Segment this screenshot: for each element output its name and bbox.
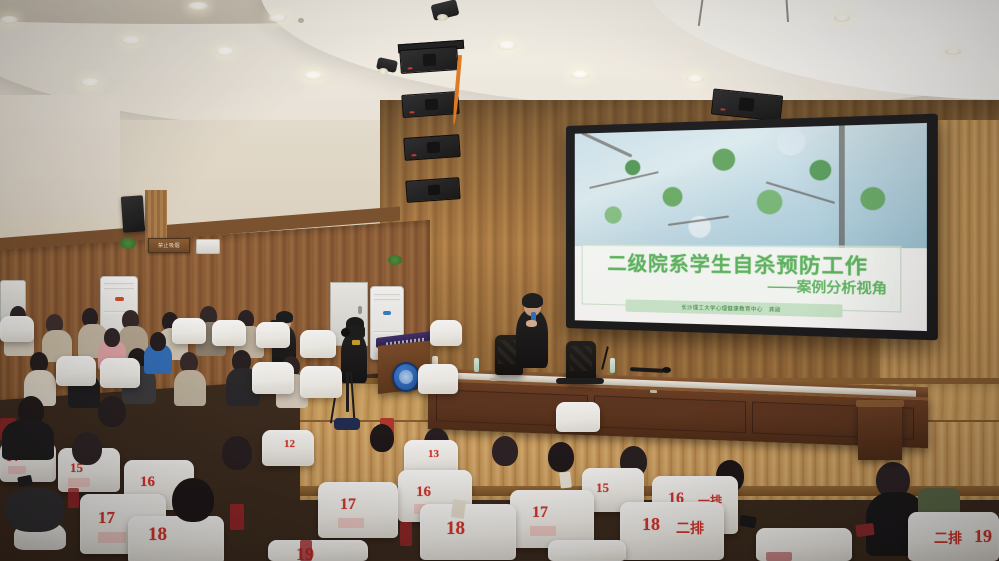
- executive-chair[interactable]: [566, 341, 596, 383]
- table-hardware: [490, 378, 497, 381]
- spotlight-lens: [378, 68, 388, 75]
- downlight: [80, 78, 100, 87]
- seat-number: 16: [140, 474, 155, 491]
- seat-tag: [68, 478, 90, 487]
- chair-cover[interactable]: [620, 502, 724, 560]
- audience-head: [104, 328, 120, 347]
- downlight: [570, 70, 590, 79]
- slide-background-photo: [575, 123, 927, 253]
- chair-cover[interactable]: [0, 316, 34, 342]
- microphone-head: [662, 367, 671, 373]
- audience-head: [548, 442, 574, 472]
- mobile-phone[interactable]: [739, 515, 757, 529]
- decorative-plant: [388, 255, 402, 265]
- table-hardware: [650, 390, 657, 393]
- chair-base: [556, 378, 604, 384]
- wall-left-upper: [0, 95, 120, 215]
- side-lectern: [858, 404, 902, 460]
- water-bottle: [474, 358, 479, 372]
- camera-bag: [334, 418, 360, 430]
- chair-cover[interactable]: [556, 402, 600, 432]
- chair-cover[interactable]: [318, 482, 398, 538]
- chair-cover[interactable]: [548, 540, 626, 561]
- audience-head: [98, 396, 126, 427]
- water-bottle: [610, 358, 615, 373]
- university-emblem: [392, 362, 420, 392]
- downlight: [0, 16, 18, 24]
- spotlight-lens: [437, 14, 448, 21]
- projection-screen[interactable]: 二级院系学生自杀预防工作 ——案例分析视角 长沙理工大学心理健康教育中心 龚勋: [566, 114, 938, 341]
- seat-tag: [338, 518, 364, 528]
- seat-number: 17: [340, 496, 356, 514]
- chair-cover[interactable]: [212, 320, 246, 346]
- chair-cover[interactable]: [56, 356, 96, 386]
- seat-number: 18: [148, 524, 167, 546]
- downlight: [497, 41, 517, 50]
- downlight: [120, 36, 142, 45]
- decorative-plant: [120, 238, 136, 249]
- chair-cover[interactable]: [300, 366, 342, 398]
- seat-number: 15: [596, 480, 609, 496]
- seat-tag: [530, 526, 556, 536]
- no-smoking-sign: 禁止吸烟: [148, 238, 190, 253]
- seat-backrest-accent: [68, 488, 79, 508]
- seat-backrest-accent: [766, 552, 792, 561]
- seat-tag: [98, 532, 126, 543]
- chair-cover[interactable]: [268, 540, 368, 561]
- chair-cover[interactable]: [128, 516, 224, 561]
- line-array-speaker: [401, 91, 459, 118]
- line-array-speaker: [405, 177, 460, 203]
- side-lectern-top: [856, 400, 904, 407]
- chair-cover[interactable]: [418, 364, 458, 394]
- audience-head: [492, 436, 518, 466]
- audience-body: [2, 420, 54, 460]
- downlight: [215, 47, 235, 56]
- chair-cover[interactable]: [172, 318, 206, 344]
- seat-number: 18: [642, 514, 660, 535]
- notebook: [559, 471, 572, 488]
- chair-cover[interactable]: [420, 504, 516, 560]
- audience-head: [6, 488, 64, 532]
- seat-number: 18: [446, 518, 465, 540]
- chair-cover[interactable]: [256, 322, 290, 348]
- auditorium-scene: 禁止吸烟 二级院系学生自杀预防工作 ——案例分析视角: [0, 0, 999, 561]
- notebook: [451, 499, 466, 519]
- seat-tag: [8, 466, 26, 474]
- audience-body: [174, 370, 206, 406]
- downlight: [188, 2, 208, 10]
- seat-row-label: 二排: [934, 528, 962, 548]
- downlight: [303, 71, 323, 80]
- seat-row-label: 二排: [676, 518, 704, 538]
- downlight: [945, 48, 961, 55]
- chair-cover[interactable]: [430, 320, 462, 346]
- audience-head: [150, 332, 166, 351]
- wall-control-panel: [196, 239, 220, 254]
- seat-number: 13: [428, 448, 439, 460]
- audience-head: [72, 432, 102, 465]
- seat-number: 17: [532, 504, 548, 522]
- seat-number: 16: [416, 484, 431, 501]
- line-array-speaker: [403, 134, 460, 161]
- audience-head: [222, 436, 252, 470]
- seat-backrest-accent: [300, 540, 312, 561]
- no-smoking-label: 禁止吸烟: [158, 242, 180, 249]
- chair-cover[interactable]: [100, 358, 140, 388]
- seat-number: 12: [284, 438, 295, 450]
- presenter-hair: [522, 293, 543, 308]
- mobile-phone[interactable]: [855, 523, 874, 537]
- mobile-phone[interactable]: [17, 475, 33, 488]
- ceiling-sprinkler: [298, 18, 304, 23]
- downlight: [269, 14, 287, 22]
- audience-head: [370, 424, 394, 452]
- audience-head: [172, 478, 214, 522]
- chair-cover[interactable]: [300, 330, 336, 358]
- seat-number: 19: [974, 526, 992, 547]
- downlight: [834, 14, 850, 22]
- seat-backrest-accent: [230, 504, 244, 530]
- downlight: [686, 75, 704, 83]
- wall-speaker: [121, 195, 145, 232]
- door-handle[interactable]: [358, 306, 362, 314]
- press-badge: [352, 340, 360, 345]
- seat-number: 17: [98, 508, 115, 528]
- seat-backrest-accent: [400, 522, 412, 546]
- chair-cover[interactable]: [252, 362, 294, 394]
- line-array-speaker: [399, 46, 459, 74]
- tripod-center-column: [346, 372, 349, 412]
- camera-lens: [341, 328, 350, 337]
- presenter-hand: [526, 320, 537, 327]
